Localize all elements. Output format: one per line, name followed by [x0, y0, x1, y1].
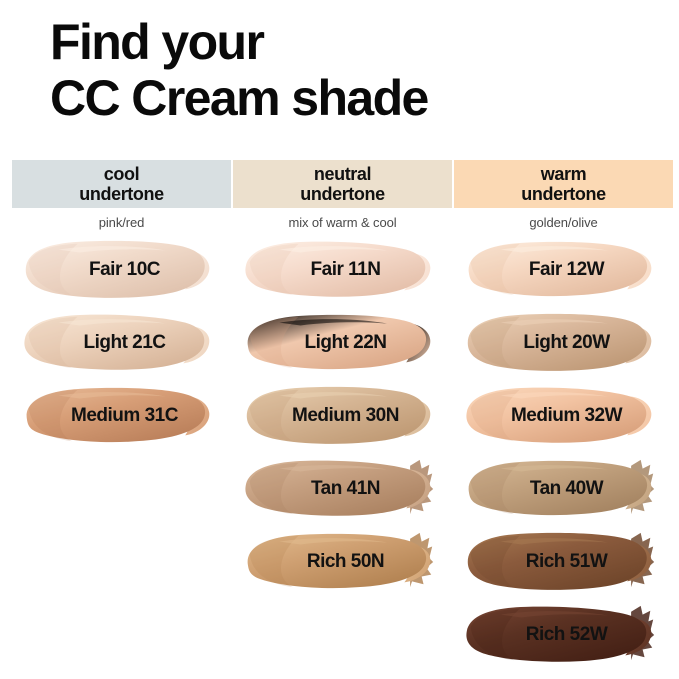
shade-finder-page: Find your CC Cream shade cool undertone …: [0, 0, 679, 679]
shade-smear-graphic: [462, 456, 658, 520]
shade-list-neutral: Fair 11NLight 22NMedium 30NTan 41NRich 5…: [233, 233, 452, 598]
shade-smear-graphic: [462, 310, 658, 374]
shade-smear-graphic: [462, 602, 658, 666]
shade-swatch[interactable]: Light 22N: [233, 306, 452, 379]
shade-smear-graphic: [462, 237, 658, 301]
shade-swatch[interactable]: Tan 41N: [233, 452, 452, 525]
shade-swatch[interactable]: Medium 32W: [454, 379, 673, 452]
column-header-neutral-line-2: undertone: [300, 184, 384, 204]
shade-swatch[interactable]: Tan 40W: [454, 452, 673, 525]
column-header-neutral: neutral undertone: [233, 160, 452, 208]
shade-smear-graphic: [462, 383, 658, 447]
shade-swatch[interactable]: Fair 11N: [233, 233, 452, 306]
shade-smear-graphic: [241, 310, 437, 374]
shade-swatch[interactable]: Medium 30N: [233, 379, 452, 452]
column-subtitle-cool: pink/red: [12, 208, 231, 233]
shade-swatch[interactable]: Light 20W: [454, 306, 673, 379]
shade-smear-graphic: [20, 237, 216, 301]
undertone-column-cool: cool undertone pink/red Fair 10CLight 21…: [12, 160, 231, 452]
page-title: Find your CC Cream shade: [50, 14, 650, 126]
shade-swatch[interactable]: Rich 50N: [233, 525, 452, 598]
shade-swatch[interactable]: Fair 10C: [12, 233, 231, 306]
undertone-columns: cool undertone pink/red Fair 10CLight 21…: [0, 160, 679, 679]
column-header-cool-line-1: cool: [104, 164, 139, 184]
column-header-warm-line-1: warm: [541, 164, 586, 184]
shade-list-warm: Fair 12WLight 20WMedium 32WTan 40WRich 5…: [454, 233, 673, 671]
shade-smear-graphic: [20, 383, 216, 447]
column-header-warm: warm undertone: [454, 160, 673, 208]
page-title-line-1: Find your: [50, 14, 650, 70]
column-header-warm-line-2: undertone: [521, 184, 605, 204]
column-header-neutral-line-1: neutral: [314, 164, 371, 184]
column-header-cool: cool undertone: [12, 160, 231, 208]
column-subtitle-warm: golden/olive: [454, 208, 673, 233]
shade-smear-graphic: [241, 383, 437, 447]
shade-smear-graphic: [20, 310, 216, 374]
shade-swatch[interactable]: Rich 51W: [454, 525, 673, 598]
shade-swatch[interactable]: Medium 31C: [12, 379, 231, 452]
shade-swatch[interactable]: Fair 12W: [454, 233, 673, 306]
column-subtitle-neutral: mix of warm & cool: [233, 208, 452, 233]
shade-smear-graphic: [241, 456, 437, 520]
undertone-column-neutral: neutral undertone mix of warm & cool Fai…: [233, 160, 452, 598]
shade-swatch[interactable]: Rich 52W: [454, 598, 673, 671]
page-title-line-2: CC Cream shade: [50, 70, 650, 126]
shade-smear-graphic: [462, 529, 658, 593]
shade-swatch[interactable]: Light 21C: [12, 306, 231, 379]
shade-smear-graphic: [241, 529, 437, 593]
column-header-cool-line-2: undertone: [79, 184, 163, 204]
shade-list-cool: Fair 10CLight 21CMedium 31C: [12, 233, 231, 452]
undertone-column-warm: warm undertone golden/olive Fair 12WLigh…: [454, 160, 673, 671]
shade-smear-graphic: [241, 237, 437, 301]
